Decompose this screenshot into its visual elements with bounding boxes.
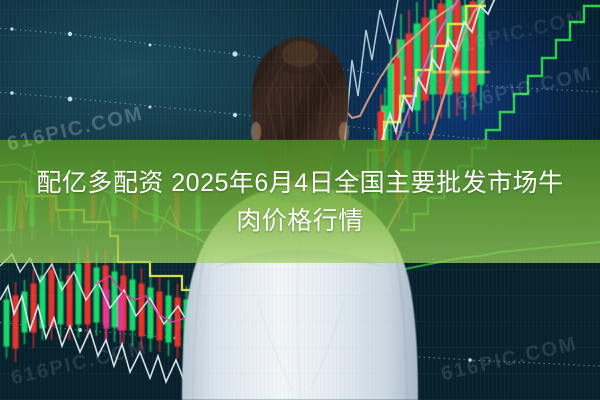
- stock-photo-banner: 616PIC.COM 616PIC.COM 616PIC.COM 616PIC.…: [0, 0, 600, 400]
- banner-title-block: 配亿多配资 2025年6月4日全国主要批发市场牛 肉价格行情: [0, 140, 600, 263]
- title-line-2: 肉价格行情: [236, 204, 364, 238]
- title-line-1: 配亿多配资 2025年6月4日全国主要批发市场牛: [30, 166, 569, 200]
